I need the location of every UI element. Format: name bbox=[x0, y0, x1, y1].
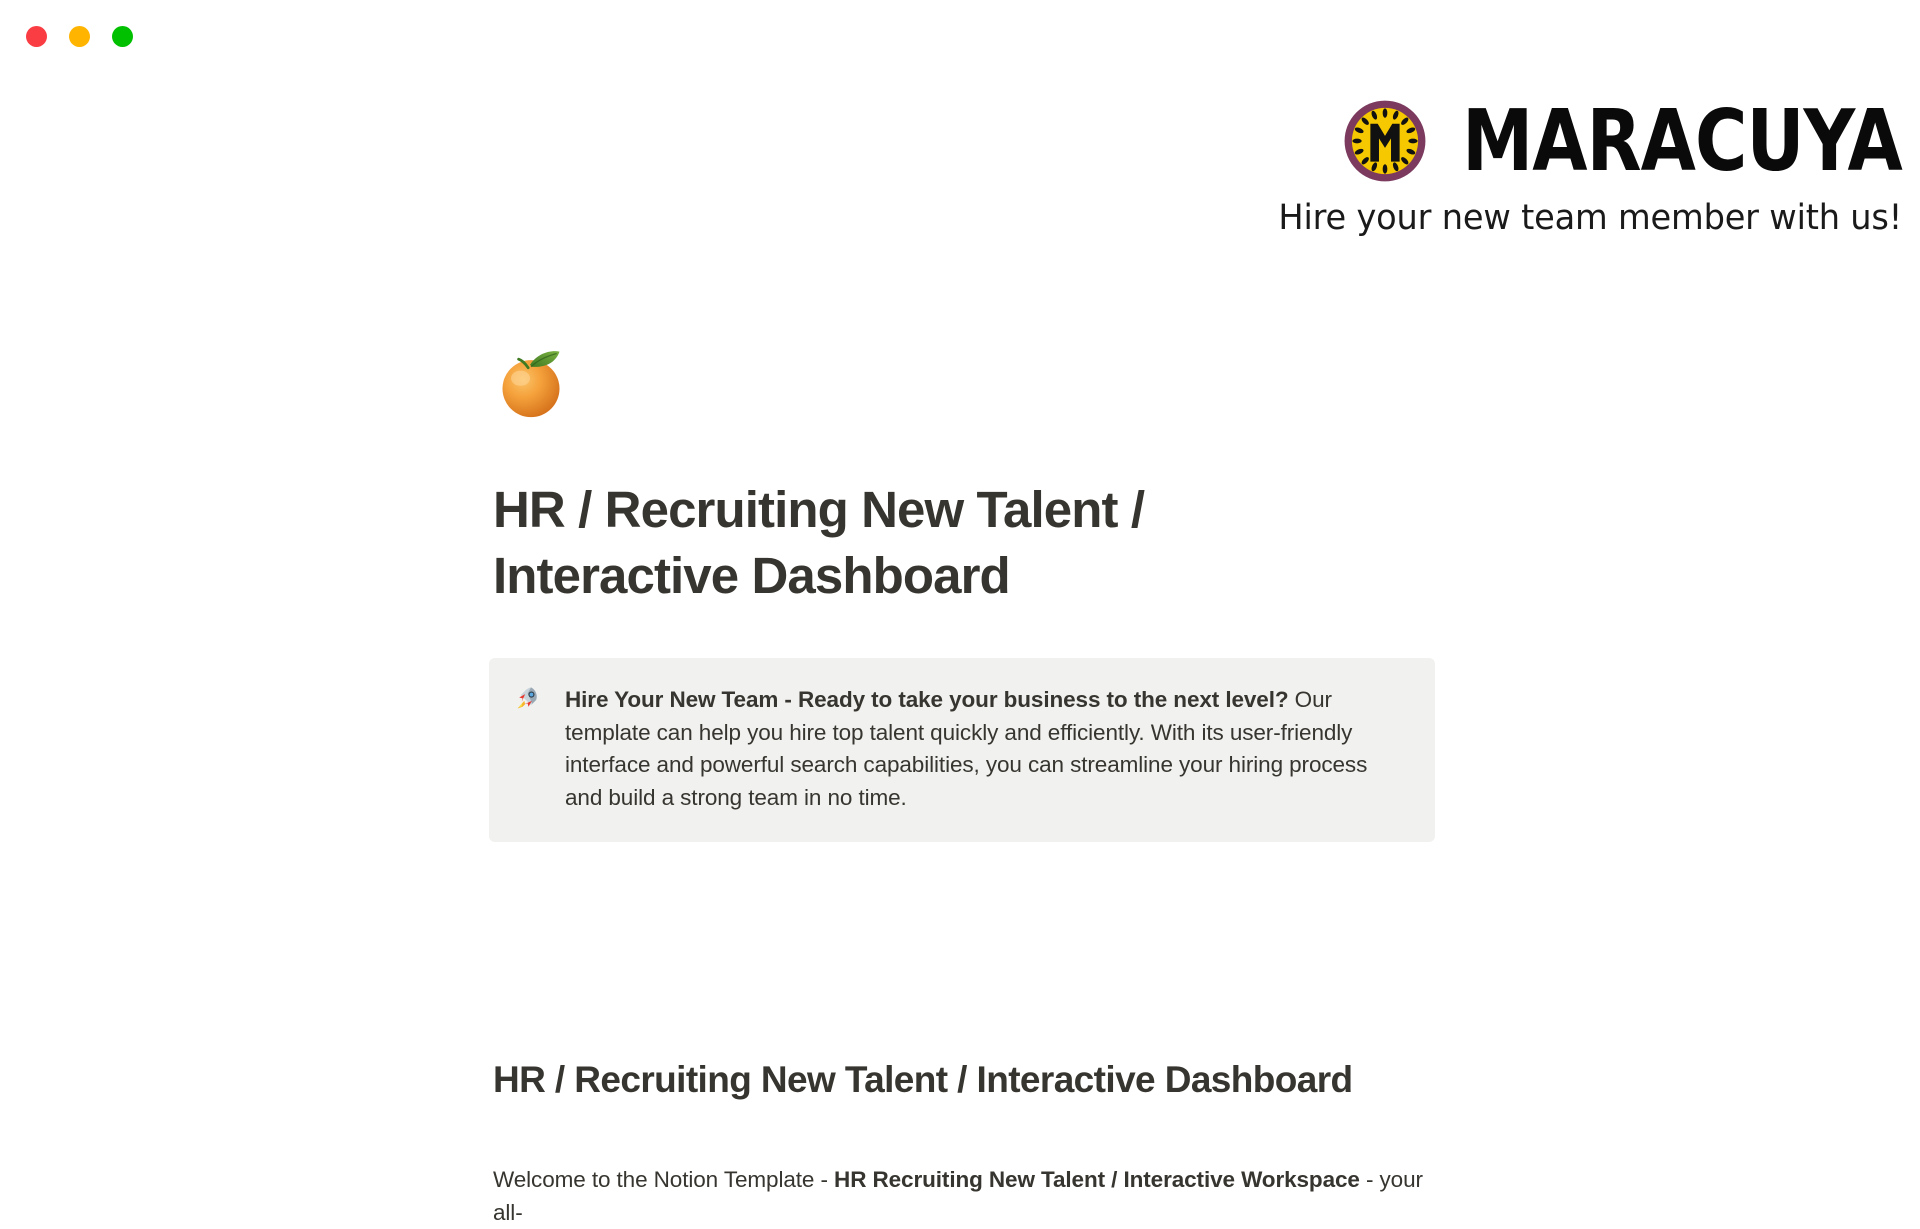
rocket-emoji bbox=[515, 684, 545, 711]
minimize-window-button[interactable] bbox=[69, 26, 90, 47]
close-window-button[interactable] bbox=[26, 26, 47, 47]
intro-paragraph: Welcome to the Notion Template - HR Recr… bbox=[493, 1163, 1438, 1229]
orange-emoji bbox=[493, 344, 583, 430]
section-heading: HR / Recruiting New Talent / Interactive… bbox=[493, 1055, 1438, 1105]
callout-block: Hire Your New Team - Ready to take your … bbox=[489, 658, 1435, 842]
callout-bold-lead: Hire Your New Team - Ready to take your … bbox=[565, 687, 1289, 712]
maracuya-passionfruit-logo-icon bbox=[1342, 98, 1428, 184]
maximize-window-button[interactable] bbox=[112, 26, 133, 47]
intro-paragraph-bold: HR Recruiting New Talent / Interactive W… bbox=[834, 1167, 1360, 1192]
window-traffic-lights bbox=[26, 26, 133, 47]
brand-lockup: MARACUYA bbox=[1000, 98, 1902, 184]
page-title: HR / Recruiting New Talent / Interactive… bbox=[493, 477, 1253, 609]
window-chrome bbox=[0, 0, 1920, 62]
brand-wordmark: MARACUYA bbox=[1462, 93, 1902, 189]
intro-paragraph-lead: Welcome to the Notion Template - bbox=[493, 1167, 834, 1192]
callout-text: Hire Your New Team - Ready to take your … bbox=[565, 684, 1405, 814]
brand-tagline: Hire your new team member with us! bbox=[1036, 196, 1902, 240]
brand-header: MARACUYA Hire your new team member with … bbox=[1000, 98, 1920, 240]
